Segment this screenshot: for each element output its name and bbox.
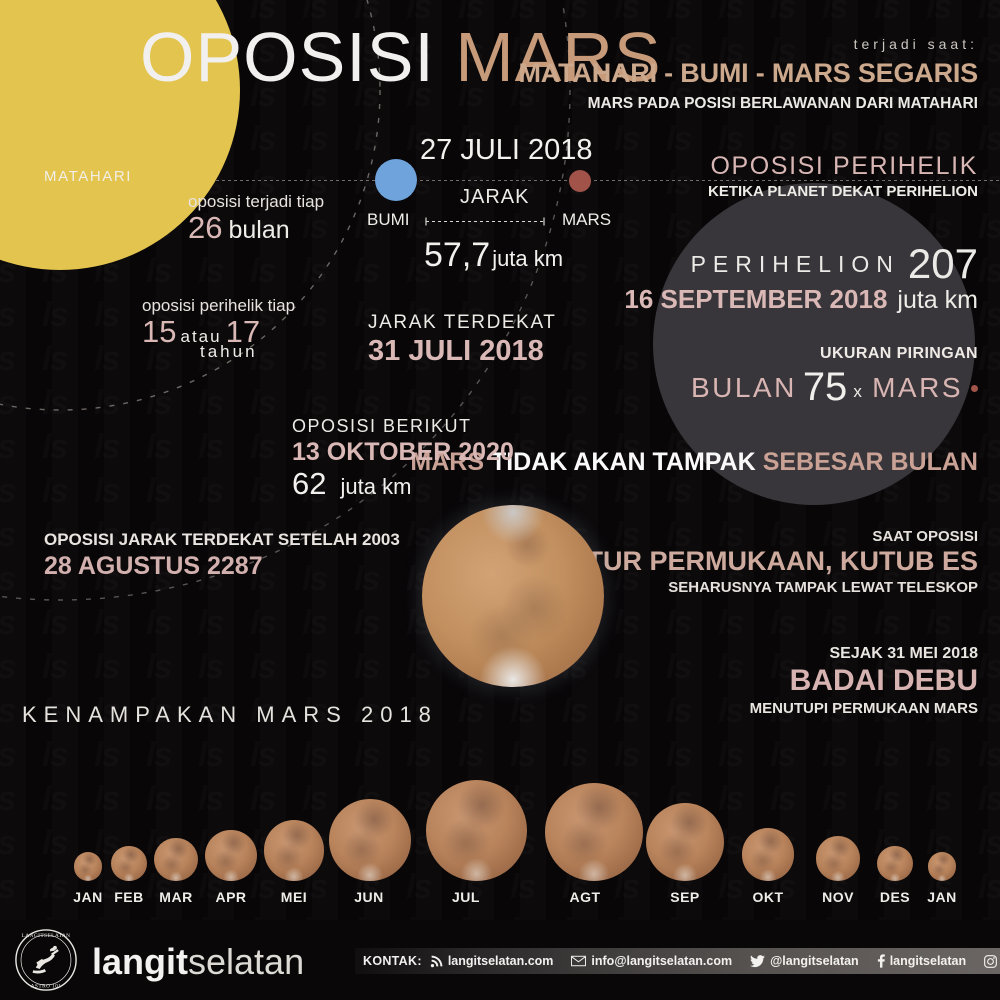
fact-next-label: OPOSISI BERIKUT xyxy=(292,416,514,437)
distance-unit: juta km xyxy=(492,246,563,271)
contact-twitter-text: @langitselatan xyxy=(770,954,859,968)
mars-disk xyxy=(928,852,957,881)
fact-next-date: 13 OKTOBER 2020 xyxy=(292,438,514,467)
mars-month-label: AGT xyxy=(545,889,625,905)
disk-size-factor: 75 xyxy=(803,365,848,409)
contact-website[interactable]: langitselatan.com xyxy=(430,954,554,968)
contact-label: KONTAK: xyxy=(363,954,422,968)
mars-disk xyxy=(742,828,795,881)
contact-bar: KONTAK: langitselatan.com info@langitsel… xyxy=(355,948,1000,974)
perihelic-opposition-sub: KETIKA PLANET DEKAT PERIHELION xyxy=(708,183,978,200)
perihelion-block: PERIHELION207 16 SEPTEMBER 2018juta km xyxy=(624,240,978,315)
contact-facebook[interactable]: langitselatan xyxy=(877,954,966,968)
fact-interval-number: 26 xyxy=(188,210,222,245)
langitselatan-logo-icon[interactable]: LANGITSELATAN ASTRO 101 xyxy=(14,928,78,992)
rss-icon xyxy=(430,955,443,968)
disk-size-mars-label: MARS xyxy=(872,372,963,403)
header-sub-line: MARS PADA POSISI BERLAWANAN DARI MATAHAR… xyxy=(588,95,978,113)
surface-features-main: FITUR PERMUKAAN, KUTUB ES xyxy=(563,546,979,577)
mars-size-item: JUN xyxy=(329,771,409,905)
fact-closest-distance: JARAK TERDEKAT 31 JULI 2018 xyxy=(368,312,557,368)
mars-disk xyxy=(816,836,861,881)
fact-closest-label: JARAK TERDEKAT xyxy=(368,312,557,334)
mars-month-label: SEP xyxy=(645,889,725,905)
facebook-icon xyxy=(877,954,885,968)
appearance-section-heading: KENAMPAKAN MARS 2018 xyxy=(22,702,438,728)
mars-circle xyxy=(569,170,591,192)
fact-interval-row: 26bulan xyxy=(188,210,324,246)
fact-next-distance-row: 62juta km xyxy=(292,466,514,502)
mars-size-item: JUL xyxy=(426,771,506,905)
fact-interval-unit: bulan xyxy=(228,216,289,244)
mars-disk xyxy=(646,803,724,881)
mars-disk xyxy=(329,799,411,881)
distance-label: JARAK xyxy=(460,186,529,209)
disk-size-moon-label: BULAN xyxy=(691,372,797,403)
surface-features-block: SAAT OPOSISI FITUR PERMUKAAN, KUTUB ES S… xyxy=(563,528,979,596)
fact-next-opposition: OPOSISI BERIKUT 13 OKTOBER 2020 62juta k… xyxy=(292,416,514,502)
mars-size-item: OKT xyxy=(728,771,808,905)
contact-email-text: info@langitselatan.com xyxy=(591,954,732,968)
distance-value-row: 57,7juta km xyxy=(424,236,563,275)
perihelic-opposition-title: OPOSISI PERIHELIK xyxy=(710,152,978,181)
perihelion-label: PERIHELION xyxy=(691,251,900,277)
fact-closest-date: 31 JULI 2018 xyxy=(368,335,557,368)
svg-text:LANGITSELATAN: LANGITSELATAN xyxy=(22,933,71,939)
sun-label: MATAHARI xyxy=(44,168,132,185)
contact-website-text: langitselatan.com xyxy=(448,954,554,968)
mars-label: MARS xyxy=(562,210,611,230)
surface-features-sub: SEHARUSNYA TAMPAK LEWAT TELESKOP xyxy=(563,579,979,596)
footer-bar: LANGITSELATAN ASTRO 101 langitselatan KO… xyxy=(0,920,1000,1000)
dust-storm-block: SEJAK 31 MEI 2018 BADAI DEBU MENUTUPI PE… xyxy=(750,645,978,717)
fact-next-distance-unit: juta km xyxy=(340,474,411,499)
perihelion-unit: juta km xyxy=(897,286,978,314)
fact-perihelic-number-1: 15 xyxy=(142,314,176,349)
infographic-poster: lslslslslslslslslslslslslslslslslslslsls… xyxy=(0,0,1000,1000)
fact-perihelic-label: oposisi perihelik tiap xyxy=(142,296,295,316)
fact-perihelic-interval: oposisi perihelik tiap 15atau17 tahun xyxy=(142,296,295,362)
distance-value: 57,7 xyxy=(424,236,490,274)
envelope-icon xyxy=(571,955,586,967)
mars-photo-main xyxy=(422,505,604,687)
disk-size-block: UKURAN PIRINGAN BULAN75x MARS xyxy=(691,345,978,410)
header-eyebrow: terjadi saat: xyxy=(854,36,978,52)
mars-month-label: JUL xyxy=(426,889,506,905)
distance-measure-line xyxy=(425,217,545,226)
mars-size-item: SEP xyxy=(645,771,725,905)
dust-storm-since: SEJAK 31 MEI 2018 xyxy=(750,645,978,663)
mars-size-item: MEI xyxy=(254,771,334,905)
perihelion-distance-value: 207 xyxy=(908,240,978,287)
fact-since-2003-date: 28 AGUSTUS 2287 xyxy=(44,552,400,581)
svg-text:ASTRO 101: ASTRO 101 xyxy=(31,984,62,990)
statement-part-c: SEBESAR BULAN xyxy=(756,448,978,476)
mars-dot-icon xyxy=(971,385,978,392)
disk-size-times: x xyxy=(853,382,862,401)
mars-size-chart: JANFEBMARAPRMEIJUNJULAGTSEPOKTNOVDESJAN xyxy=(0,755,1000,905)
fact-next-distance: 62 xyxy=(292,466,326,501)
perihelion-date: 16 SEPTEMBER 2018 xyxy=(624,284,887,314)
brand-wordmark[interactable]: langitselatan xyxy=(92,944,304,980)
perihelion-row-label: PERIHELION207 xyxy=(624,240,978,288)
mars-size-item: JAN xyxy=(902,771,982,905)
statement-part-b: TIDAK AKAN TAMPAK xyxy=(491,448,756,476)
contact-facebook-text: langitselatan xyxy=(890,954,966,968)
mars-month-label: OKT xyxy=(728,889,808,905)
mars-month-label: JAN xyxy=(902,889,982,905)
mars-month-label: MEI xyxy=(254,889,334,905)
mars-disk xyxy=(426,780,527,881)
mars-disk xyxy=(205,830,256,881)
mars-disk xyxy=(545,783,643,881)
surface-features-eyebrow: SAAT OPOSISI xyxy=(563,528,979,545)
brand-part-selatan: selatan xyxy=(188,941,304,982)
earth-circle xyxy=(375,159,417,201)
earth-label: BUMI xyxy=(367,210,410,230)
disk-size-heading: UKURAN PIRINGAN xyxy=(691,345,978,363)
contact-instagram[interactable]: langitselatanmedia xyxy=(984,954,1000,968)
disk-size-formula: BULAN75x MARS xyxy=(691,365,978,410)
header-main-line: MATAHARI - BUMI - MARS SEGARIS xyxy=(519,58,978,89)
mars-size-item: AGT xyxy=(545,771,625,905)
brand-part-langit: langit xyxy=(92,941,188,982)
contact-twitter[interactable]: @langitselatan xyxy=(750,954,859,968)
fact-since-2003-label: OPOSISI JARAK TERDEKAT SETELAH 2003 xyxy=(44,530,400,550)
fact-interval-label: oposisi terjadi tiap xyxy=(188,192,324,212)
fact-perihelic-unit: tahun xyxy=(200,342,295,362)
mars-disk xyxy=(264,820,325,881)
title-part-oposisi: OPOSISI xyxy=(140,18,435,96)
dust-storm-title: BADAI DEBU xyxy=(750,664,978,698)
perihelion-row-date: 16 SEPTEMBER 2018juta km xyxy=(624,284,978,315)
contact-email[interactable]: info@langitselatan.com xyxy=(571,954,732,968)
instagram-icon xyxy=(984,955,997,968)
mars-month-label: JUN xyxy=(329,889,409,905)
twitter-icon xyxy=(750,955,765,968)
opposition-date: 27 JULI 2018 xyxy=(420,134,593,167)
dust-storm-sub: MENUTUPI PERMUKAAN MARS xyxy=(750,700,978,717)
fact-closest-since-2003: OPOSISI JARAK TERDEKAT SETELAH 2003 28 A… xyxy=(44,530,400,581)
fact-opposition-interval: oposisi terjadi tiap 26bulan xyxy=(188,192,324,246)
